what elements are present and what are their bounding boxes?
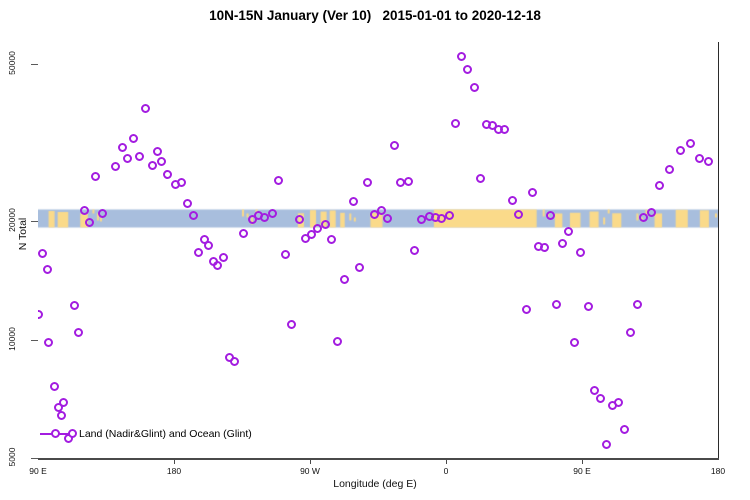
- y-axis-label: N Total: [17, 189, 29, 279]
- data-point: [377, 206, 386, 215]
- data-point: [476, 174, 485, 183]
- data-point: [287, 320, 296, 329]
- data-point: [576, 248, 585, 257]
- data-point: [321, 220, 330, 229]
- data-point: [74, 328, 83, 337]
- data-point: [295, 215, 304, 224]
- data-point: [57, 411, 66, 420]
- y-tick-label: 20000: [7, 202, 17, 238]
- data-point: [508, 196, 517, 205]
- data-points-layer: [38, 42, 718, 458]
- data-point: [383, 214, 392, 223]
- data-point: [665, 165, 674, 174]
- data-point: [470, 83, 479, 92]
- data-point: [281, 250, 290, 259]
- y-tick-mark: [31, 340, 38, 341]
- x-tick-label: 180: [711, 466, 725, 476]
- data-point: [552, 300, 561, 309]
- data-point: [355, 263, 364, 272]
- data-point: [410, 246, 419, 255]
- data-point: [522, 305, 531, 314]
- data-point: [85, 218, 94, 227]
- data-point: [183, 199, 192, 208]
- data-point: [614, 398, 623, 407]
- data-point: [333, 337, 342, 346]
- data-point: [602, 440, 611, 449]
- data-point: [135, 152, 144, 161]
- page-title: 10N-15N January (Ver 10) 2015-01-01 to 2…: [0, 8, 750, 23]
- data-point: [340, 275, 349, 284]
- data-point: [219, 253, 228, 262]
- data-point: [633, 300, 642, 309]
- x-tick-label: 90 E: [29, 466, 47, 476]
- data-point: [584, 302, 593, 311]
- x-tick-mark: [446, 458, 447, 464]
- data-point: [457, 52, 466, 61]
- data-point: [626, 328, 635, 337]
- data-point: [514, 210, 523, 219]
- legend: Land (Nadir&Glint) and Ocean (Glint): [40, 426, 252, 442]
- data-point: [38, 310, 43, 319]
- data-point: [596, 394, 605, 403]
- data-point: [141, 104, 150, 113]
- data-point: [695, 154, 704, 163]
- data-point: [390, 141, 399, 150]
- legend-circle-icon-secondary: [68, 429, 77, 438]
- y-tick-label: 5000: [7, 439, 17, 475]
- data-point: [676, 146, 685, 155]
- data-point: [189, 211, 198, 220]
- data-point: [451, 119, 460, 128]
- right-axis-line: [718, 42, 719, 459]
- x-tick-label: 90 W: [300, 466, 320, 476]
- data-point: [118, 143, 127, 152]
- data-point: [80, 206, 89, 215]
- data-point: [163, 170, 172, 179]
- data-point: [570, 338, 579, 347]
- data-point: [194, 248, 203, 257]
- data-point: [686, 139, 695, 148]
- x-tick-mark: [582, 458, 583, 464]
- data-point: [546, 211, 555, 220]
- data-point: [528, 188, 537, 197]
- data-point: [239, 229, 248, 238]
- data-point: [153, 147, 162, 156]
- data-point: [647, 208, 656, 217]
- data-point: [98, 209, 107, 218]
- y-tick-label: 50000: [7, 45, 17, 81]
- data-point: [91, 172, 100, 181]
- data-point: [213, 261, 222, 270]
- legend-label: Land (Nadir&Glint) and Ocean (Glint): [79, 428, 252, 440]
- data-point: [655, 181, 664, 190]
- data-point: [70, 301, 79, 310]
- data-point: [230, 357, 239, 366]
- data-point: [111, 162, 120, 171]
- data-point: [404, 177, 413, 186]
- data-point: [123, 154, 132, 163]
- data-point: [44, 338, 53, 347]
- y-tick-mark: [31, 458, 38, 459]
- data-point: [704, 157, 713, 166]
- data-point: [204, 241, 213, 250]
- x-tick-label: 90 E: [573, 466, 591, 476]
- x-axis-label: Longitude (deg E): [0, 478, 750, 490]
- data-point: [59, 398, 68, 407]
- data-point: [43, 265, 52, 274]
- data-point: [327, 235, 336, 244]
- data-point: [363, 178, 372, 187]
- x-tick-label: 180: [167, 466, 181, 476]
- data-point: [463, 65, 472, 74]
- data-point: [50, 382, 59, 391]
- x-axis-line: [38, 458, 719, 460]
- data-point: [445, 211, 454, 220]
- y-tick-mark: [31, 221, 38, 222]
- x-tick-mark: [310, 458, 311, 464]
- y-tick-mark: [31, 64, 38, 65]
- data-point: [540, 243, 549, 252]
- data-point: [157, 157, 166, 166]
- y-tick-label: 10000: [7, 321, 17, 357]
- data-point: [38, 249, 47, 258]
- legend-marker-sample: [40, 428, 70, 440]
- x-tick-mark: [174, 458, 175, 464]
- data-point: [564, 227, 573, 236]
- data-point: [274, 176, 283, 185]
- plot-area: [38, 42, 718, 458]
- data-point: [177, 178, 186, 187]
- data-point: [268, 209, 277, 218]
- data-point: [349, 197, 358, 206]
- data-point: [620, 425, 629, 434]
- data-point: [148, 161, 157, 170]
- legend-circle-icon: [51, 429, 60, 438]
- data-point: [558, 239, 567, 248]
- data-point: [500, 125, 509, 134]
- data-point: [129, 134, 138, 143]
- x-tick-label: 0: [444, 466, 449, 476]
- scatter-plot-figure: 10N-15N January (Ver 10) 2015-01-01 to 2…: [0, 0, 750, 500]
